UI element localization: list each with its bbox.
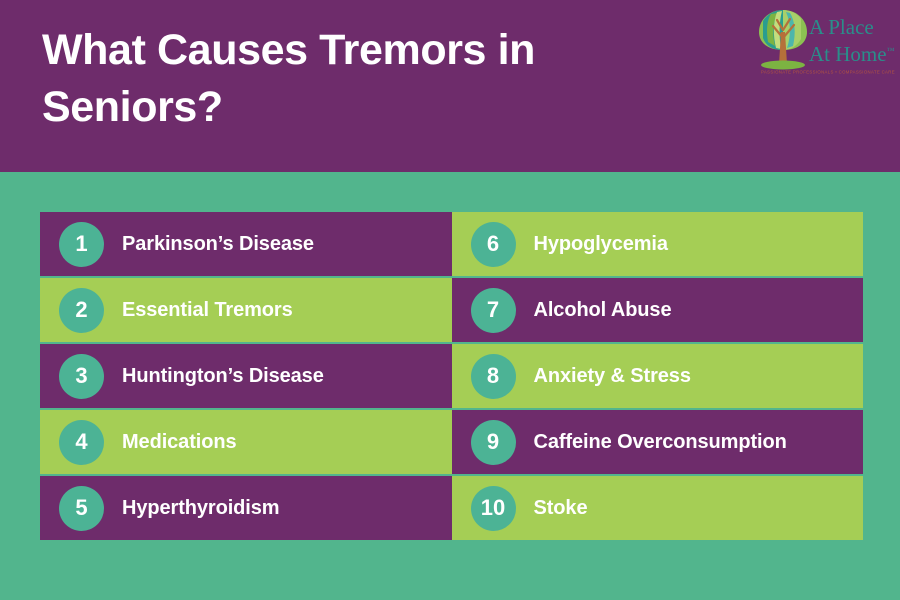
left-column: 1Parkinson’s Disease2Essential Tremors3H… [40, 212, 452, 540]
list-item[interactable]: 4Medications [40, 410, 452, 474]
item-number-badge: 4 [59, 420, 104, 465]
item-number-badge: 5 [59, 486, 104, 531]
item-label: Medications [122, 431, 236, 454]
logo-wordmark: A Place At Home™ [809, 16, 894, 66]
item-label: Hypoglycemia [534, 233, 668, 256]
item-label: Essential Tremors [122, 299, 293, 322]
item-number-badge: 2 [59, 288, 104, 333]
logo-tagline: PASSIONATE PROFESSIONALS • COMPASSIONATE… [761, 69, 895, 75]
list-item[interactable]: 1Parkinson’s Disease [40, 212, 452, 276]
item-number-badge: 1 [59, 222, 104, 267]
item-label: Caffeine Overconsumption [534, 431, 787, 454]
tree-logo-icon [757, 8, 809, 70]
list-item[interactable]: 5Hyperthyroidism [40, 476, 452, 540]
list-item[interactable]: 7Alcohol Abuse [452, 278, 864, 342]
logo[interactable]: A Place At Home™ PASSIONATE PROFESSIONAL… [757, 8, 897, 84]
item-number-badge: 9 [471, 420, 516, 465]
item-number-badge: 3 [59, 354, 104, 399]
logo-line-1: A Place [809, 16, 894, 39]
header-banner: What Causes Tremors in Seniors? A Place … [0, 0, 900, 172]
item-label: Parkinson’s Disease [122, 233, 314, 256]
item-label: Stoke [534, 497, 588, 520]
item-number-badge: 8 [471, 354, 516, 399]
list-item[interactable]: 2Essential Tremors [40, 278, 452, 342]
logo-trademark: ™ [887, 46, 895, 55]
item-label: Anxiety & Stress [534, 365, 691, 388]
causes-list: 1Parkinson’s Disease2Essential Tremors3H… [40, 212, 863, 540]
list-item[interactable]: 8Anxiety & Stress [452, 344, 864, 408]
list-item[interactable]: 9Caffeine Overconsumption [452, 410, 864, 474]
item-label: Huntington’s Disease [122, 365, 324, 388]
item-label: Alcohol Abuse [534, 299, 672, 322]
list-item[interactable]: 10Stoke [452, 476, 864, 540]
item-label: Hyperthyroidism [122, 497, 279, 520]
item-number-badge: 6 [471, 222, 516, 267]
item-number-badge: 10 [471, 486, 516, 531]
logo-line-2: At Home™ [809, 39, 894, 66]
page-title: What Causes Tremors in Seniors? [42, 22, 682, 136]
right-column: 6Hypoglycemia7Alcohol Abuse8Anxiety & St… [452, 212, 864, 540]
list-item[interactable]: 6Hypoglycemia [452, 212, 864, 276]
item-number-badge: 7 [471, 288, 516, 333]
list-item[interactable]: 3Huntington’s Disease [40, 344, 452, 408]
